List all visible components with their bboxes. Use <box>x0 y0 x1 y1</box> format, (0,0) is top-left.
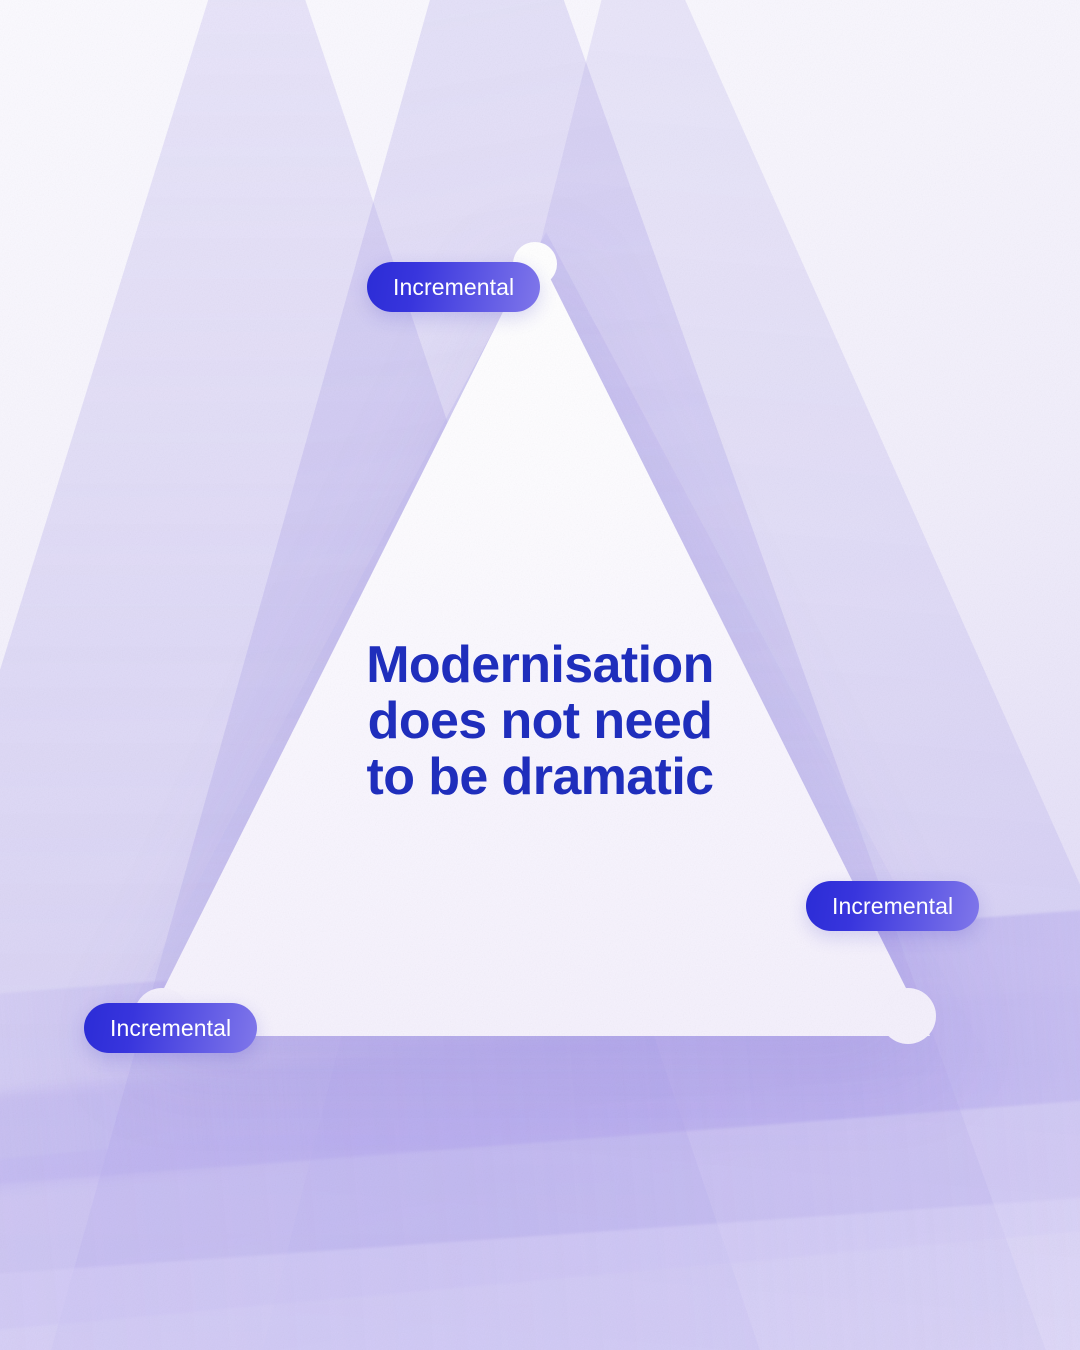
badge-incremental-bottom-left[interactable]: Incremental <box>84 1003 257 1053</box>
page-title: Modernisation does not need to be dramat… <box>0 637 1080 805</box>
badge-label: Incremental <box>110 1015 231 1042</box>
triangle-corner-right-cap <box>880 988 936 1044</box>
badge-incremental-top[interactable]: Incremental <box>367 262 540 312</box>
badge-incremental-bottom-right[interactable]: Incremental <box>806 881 979 931</box>
badge-label: Incremental <box>393 274 514 301</box>
poster-canvas: Modernisation does not need to be dramat… <box>0 0 1080 1350</box>
badge-label: Incremental <box>832 893 953 920</box>
